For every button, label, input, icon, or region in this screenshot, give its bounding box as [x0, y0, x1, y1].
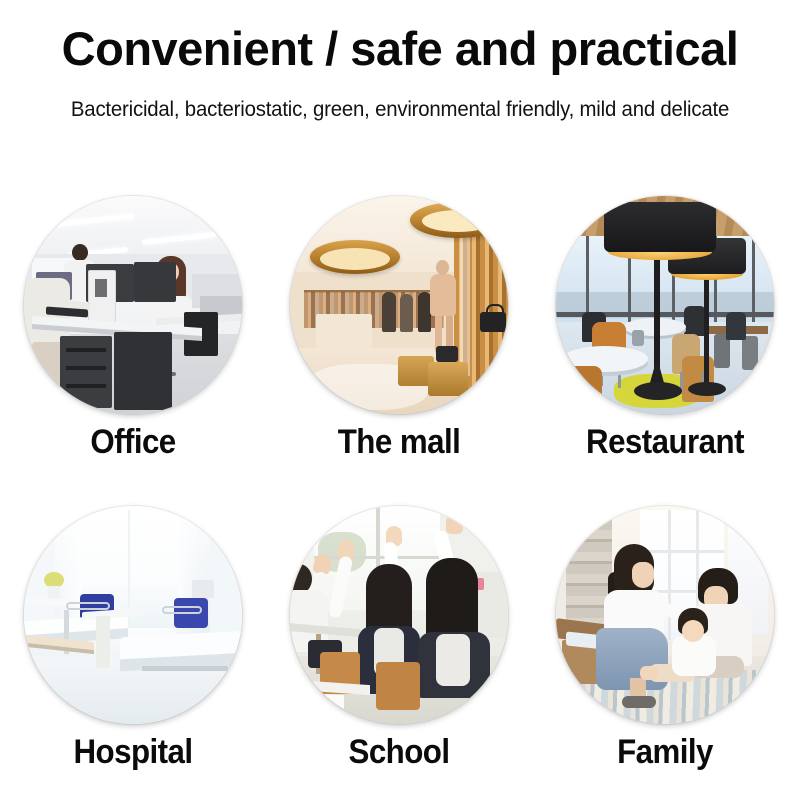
hospital-photo-circle	[24, 506, 242, 724]
scenario-card-office[interactable]: Office	[0, 176, 266, 476]
page-title: Convenient / safe and practical	[0, 24, 800, 73]
scenario-card-restaurant[interactable]: Restaurant	[532, 176, 798, 476]
hospital-circle-wrap	[24, 506, 242, 724]
school-circle-wrap	[290, 506, 508, 724]
family-circle-wrap	[556, 506, 774, 724]
school-scene-illustration	[290, 506, 508, 724]
scenario-label-office: Office	[11, 423, 256, 462]
restaurant-circle-wrap	[556, 196, 774, 414]
scenario-row-2: Hospital	[0, 486, 800, 796]
scenario-label-family: Family	[543, 733, 788, 772]
scenario-grid: Office	[0, 176, 800, 796]
scenario-card-mall[interactable]: The mall	[266, 176, 532, 476]
school-photo-circle	[290, 506, 508, 724]
mall-circle-wrap	[290, 196, 508, 414]
office-photo-circle	[24, 196, 242, 414]
scenario-label-restaurant: Restaurant	[543, 423, 788, 462]
page-subtitle: Bactericidal, bacteriostatic, green, env…	[12, 98, 788, 122]
office-circle-wrap	[24, 196, 242, 414]
hospital-scene-illustration	[24, 506, 242, 724]
mall-scene-illustration	[290, 196, 508, 414]
family-photo-circle	[556, 506, 774, 724]
restaurant-scene-illustration	[556, 196, 774, 414]
family-scene-illustration	[556, 506, 774, 724]
office-scene-illustration	[24, 196, 242, 414]
scenario-card-hospital[interactable]: Hospital	[0, 486, 266, 786]
scenario-card-family[interactable]: Family	[532, 486, 798, 786]
scenario-label-mall: The mall	[277, 423, 522, 462]
scenario-card-school[interactable]: School	[266, 486, 532, 786]
scenario-label-school: School	[277, 733, 522, 772]
scenario-row-1: Office	[0, 176, 800, 486]
mall-photo-circle	[290, 196, 508, 414]
scenario-label-hospital: Hospital	[11, 733, 256, 772]
restaurant-photo-circle	[556, 196, 774, 414]
product-feature-panel: Convenient / safe and practical Bacteric…	[0, 0, 800, 800]
